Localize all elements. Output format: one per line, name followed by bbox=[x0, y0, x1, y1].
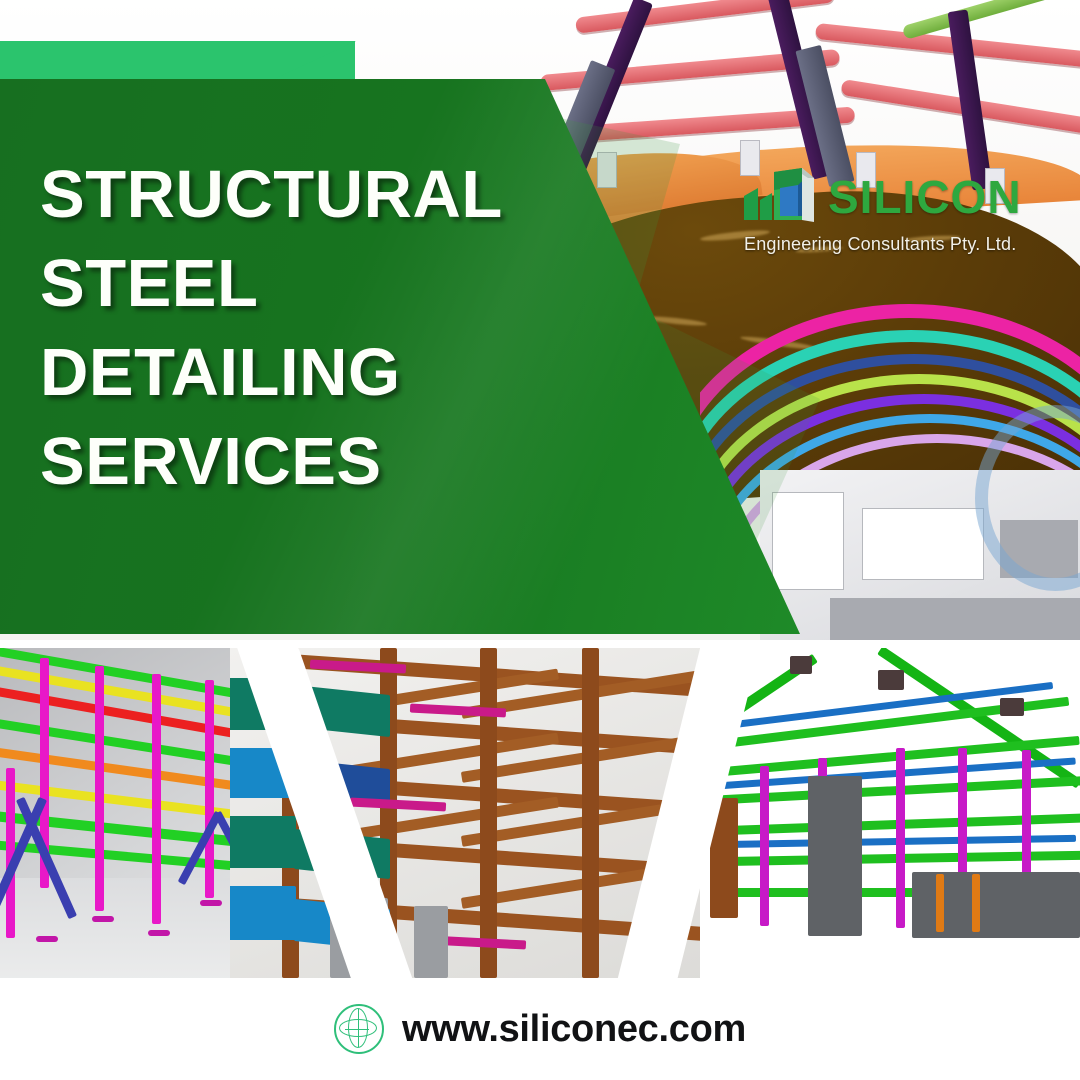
interior-panel-1 bbox=[772, 492, 844, 590]
baseplate-a3 bbox=[148, 930, 170, 936]
column-c1 bbox=[760, 766, 769, 926]
thumbnail-roof-truss-green bbox=[700, 648, 1080, 978]
roof-cap-c1 bbox=[790, 656, 812, 674]
column-b4 bbox=[582, 648, 599, 978]
globe-icon bbox=[334, 1004, 384, 1054]
column-c3 bbox=[896, 748, 905, 928]
column-a3 bbox=[152, 674, 161, 924]
brand-logo-row: SILICON bbox=[742, 166, 1062, 228]
interior-panel-2 bbox=[862, 508, 984, 580]
deck-b4 bbox=[230, 886, 296, 940]
column-b3 bbox=[480, 648, 497, 978]
accent-bar-tip bbox=[274, 41, 356, 79]
core-b2 bbox=[414, 906, 448, 978]
deck-edge-b3 bbox=[350, 797, 446, 811]
poster-canvas: STRUCTURAL STEEL DETAILING SERVICES bbox=[0, 0, 1080, 1080]
baseplate-a4 bbox=[200, 900, 222, 906]
brand-logo: SILICON Engineering Consultants Pty. Ltd… bbox=[742, 166, 1062, 255]
column-a2 bbox=[95, 666, 104, 911]
thumbnail-strip bbox=[0, 648, 1080, 978]
column-a4 bbox=[205, 680, 214, 898]
bracing-a3 bbox=[178, 811, 223, 885]
hero-section: STRUCTURAL STEEL DETAILING SERVICES bbox=[0, 0, 1080, 640]
baseplate-a1 bbox=[36, 936, 58, 942]
brand-name: SILICON bbox=[828, 174, 1022, 220]
headline-block: STRUCTURAL STEEL DETAILING SERVICES bbox=[40, 150, 640, 506]
deck-b3 bbox=[230, 816, 296, 868]
building-logo-icon bbox=[742, 166, 820, 228]
roof-cap-c3 bbox=[1000, 698, 1024, 716]
roof-cap-c2 bbox=[878, 670, 904, 690]
brand-tagline: Engineering Consultants Pty. Ltd. bbox=[744, 234, 1062, 255]
website-url[interactable]: www.siliconec.com bbox=[402, 1008, 746, 1051]
anchor-c1 bbox=[936, 874, 944, 932]
core-c1 bbox=[808, 776, 862, 936]
baseplate-a2 bbox=[92, 916, 114, 922]
interior-floor-slab bbox=[830, 598, 1080, 640]
headline-line-2: STEEL bbox=[40, 239, 640, 328]
headline-line-4: SERVICES bbox=[40, 417, 640, 506]
headline-line-3: DETAILING bbox=[40, 328, 640, 417]
headline-line-1: STRUCTURAL bbox=[40, 150, 640, 239]
footer-bar: www.siliconec.com bbox=[0, 978, 1080, 1080]
anchor-c2 bbox=[972, 874, 980, 932]
